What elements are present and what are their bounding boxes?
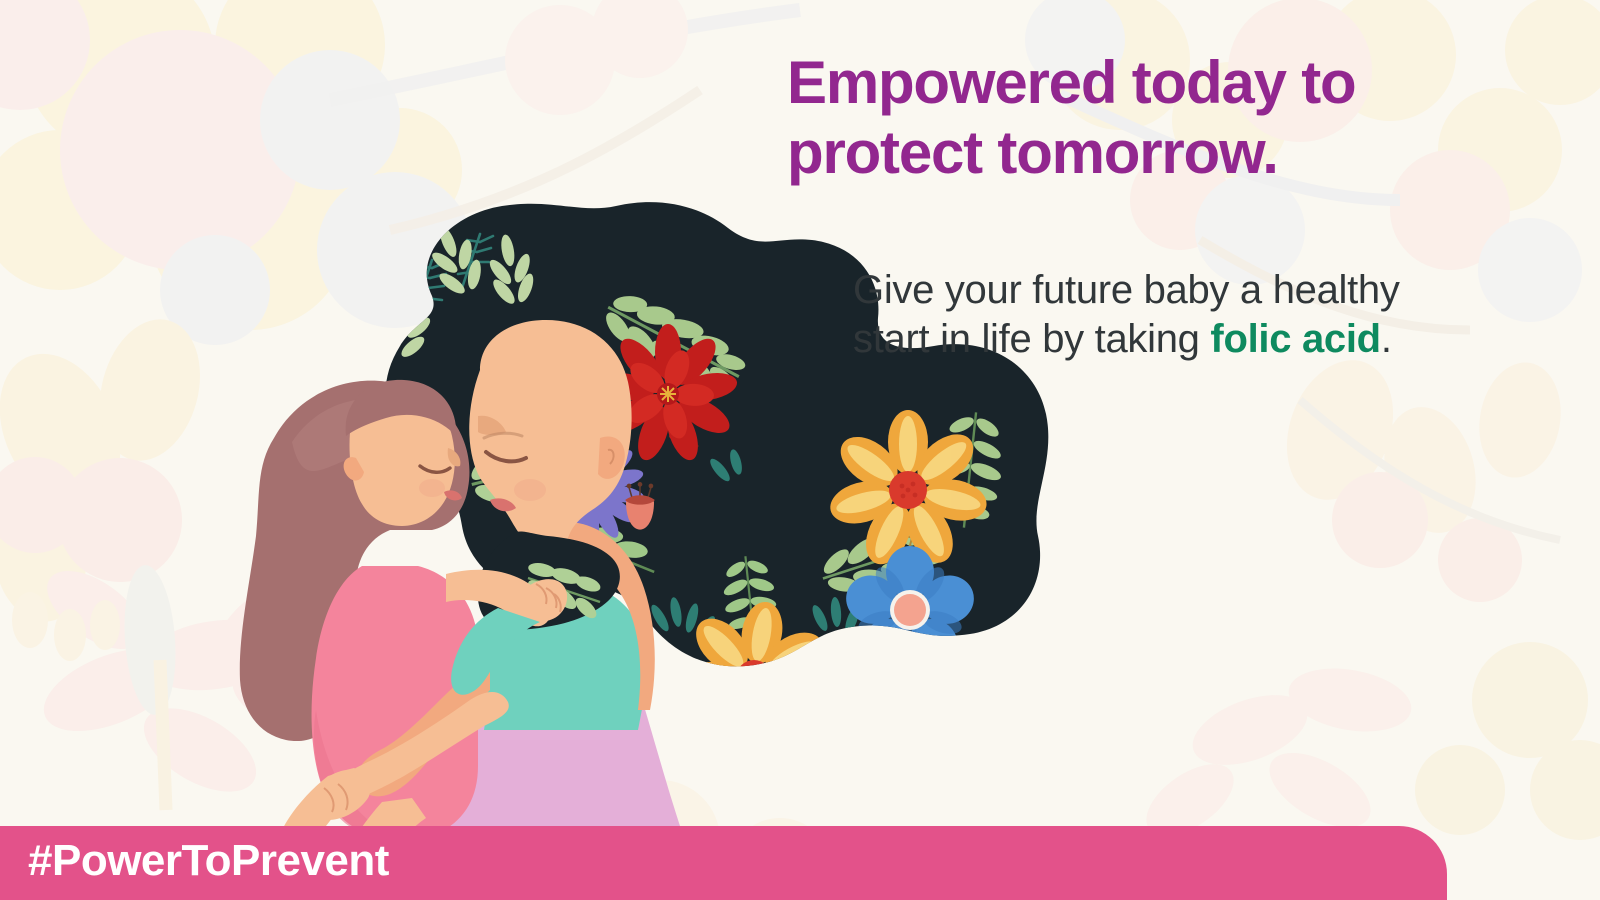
subheading-text-tail: .	[1381, 317, 1392, 361]
hashtag-banner: #PowerToPrevent	[0, 826, 1447, 900]
child-cheek	[419, 479, 445, 497]
mother-cheek	[514, 479, 546, 501]
headline-line-1: Empowered today to	[787, 48, 1487, 118]
subheading: Give your future baby a healthy start in…	[853, 266, 1453, 364]
headline: Empowered today to protect tomorrow.	[787, 48, 1487, 188]
flower-red-dahlia-right	[896, 657, 1023, 783]
poster-canvas: Empowered today to protect tomorrow. Giv…	[0, 0, 1600, 900]
flower-pink-bud-lower	[1047, 708, 1080, 740]
subheading-highlight-folic-acid: folic acid	[1210, 317, 1380, 361]
headline-line-2: protect tomorrow.	[787, 118, 1487, 188]
flower-purple-aster-right	[949, 636, 1080, 780]
flower-pink-bud-small	[648, 679, 709, 721]
hashtag-text: #PowerToPrevent	[28, 837, 389, 885]
